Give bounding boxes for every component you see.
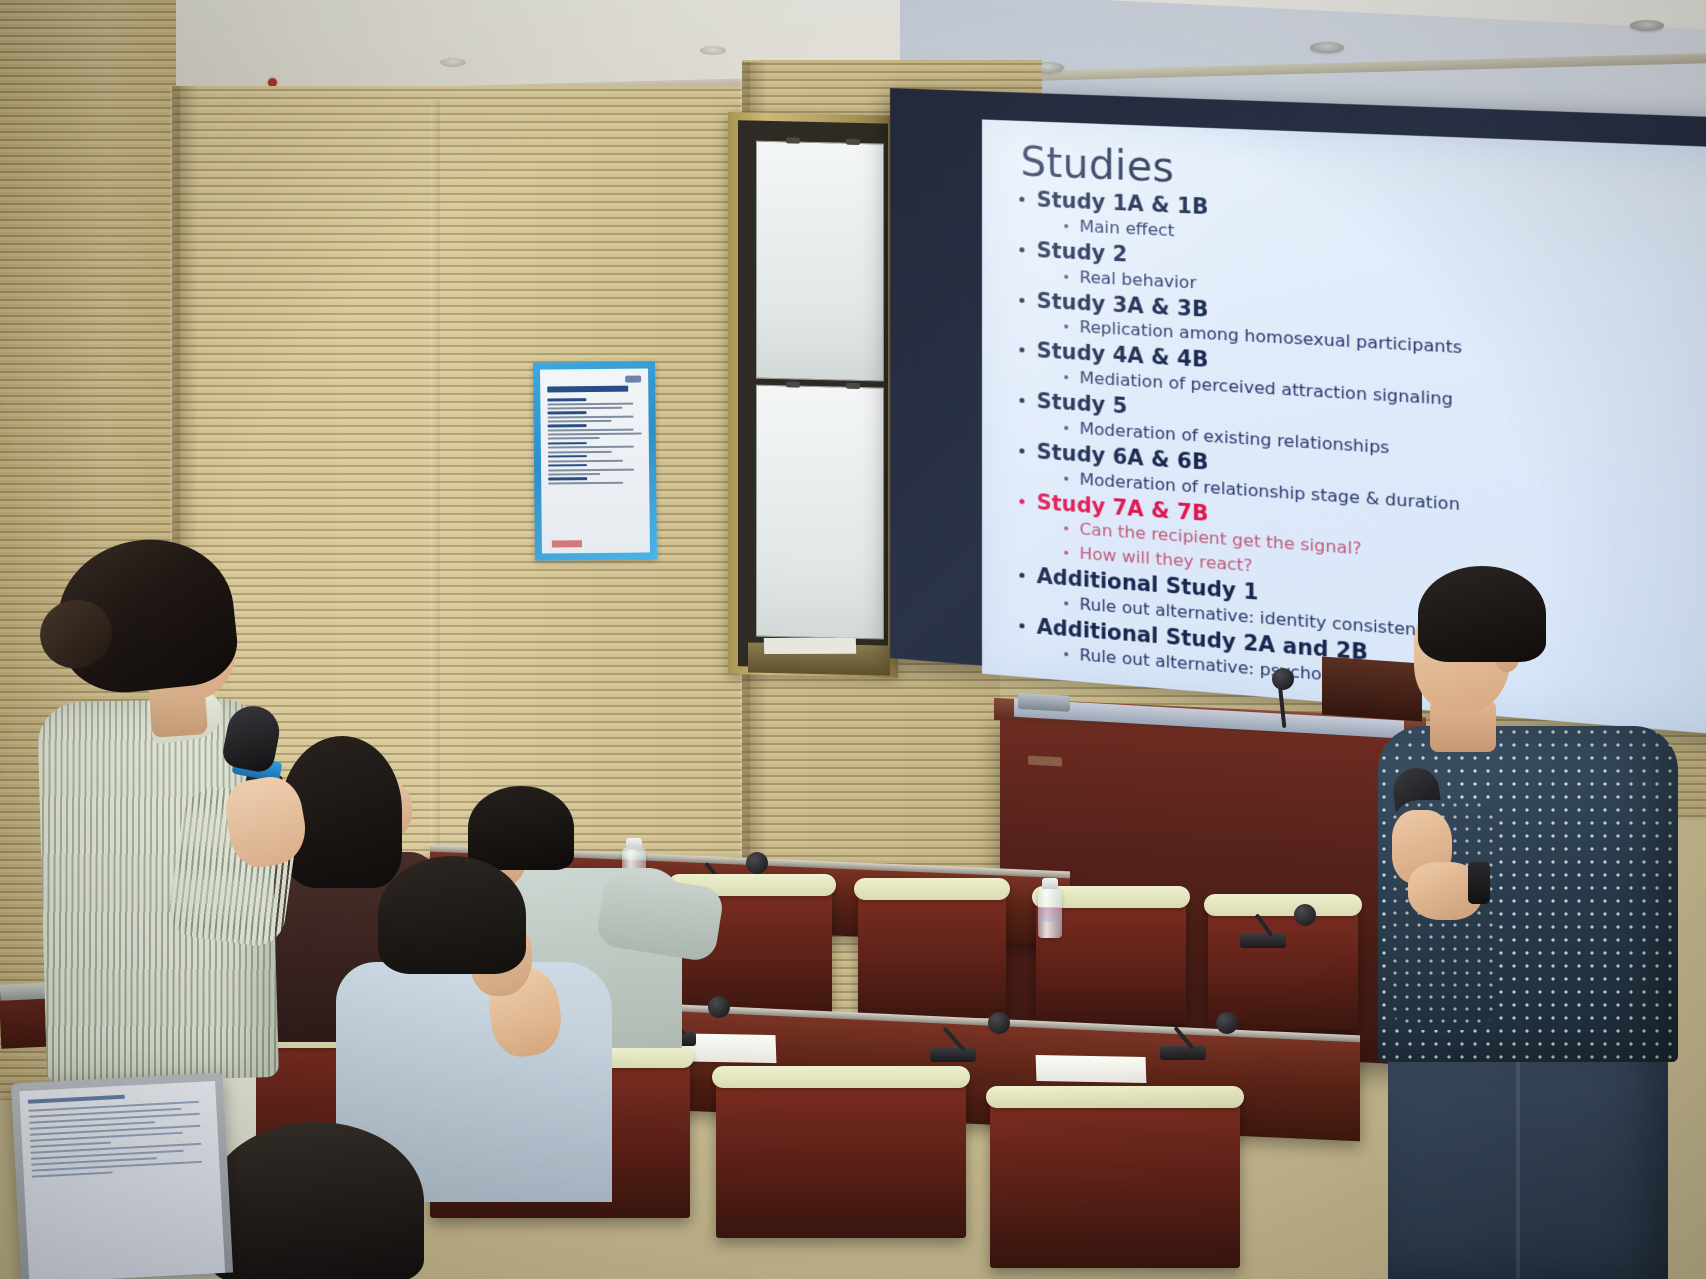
poster-line — [548, 442, 587, 445]
podium-monitor-frame — [1322, 657, 1422, 722]
bottle-cap — [1042, 878, 1058, 889]
chair-headrest-cushion — [986, 1086, 1244, 1108]
chair-headrest-cushion — [712, 1066, 970, 1088]
poster-line — [547, 411, 586, 414]
seated-man-hair — [378, 856, 526, 974]
poster-line — [548, 429, 634, 432]
conference-room-photo: Studies Study 1A & 1BMain effectStudy 2R… — [0, 0, 1706, 1279]
poster-line — [548, 450, 612, 453]
auditorium-chair[interactable] — [1208, 906, 1358, 1030]
poster-line — [548, 464, 587, 467]
man-jeans-seam — [1516, 1060, 1520, 1279]
man-hair — [1418, 566, 1546, 662]
ceiling-downlight-icon — [1310, 42, 1344, 53]
wall-notice-poster — [533, 361, 657, 560]
open-laptop[interactable] — [11, 1073, 233, 1279]
poster-line — [547, 402, 633, 405]
poster-line — [548, 420, 612, 423]
poster-footer — [552, 540, 640, 548]
seated-person-foreground — [208, 1122, 424, 1279]
auditorium-chair[interactable] — [990, 1098, 1240, 1268]
whiteboard-clip-icon — [846, 383, 860, 389]
presentation-slide: Studies Study 1A & 1BMain effectStudy 2R… — [982, 119, 1706, 738]
poster-line — [548, 473, 600, 476]
poster-line — [548, 468, 634, 471]
whiteboard-panel — [728, 112, 898, 678]
poster-logo-icon — [625, 376, 641, 383]
poster-line — [547, 398, 586, 401]
poster-line — [548, 446, 634, 449]
wristwatch-icon — [1468, 862, 1490, 904]
slide-bullet-list: Study 1A & 1BMain effectStudy 2Real beha… — [982, 186, 1706, 721]
poster-line — [548, 437, 600, 440]
whiteboard-clip-icon — [786, 137, 800, 143]
lectern-clip-icon — [1018, 693, 1070, 712]
whiteboard-surface-top — [756, 141, 884, 382]
poster-content — [540, 368, 650, 553]
poster-line — [548, 433, 642, 436]
whiteboard-surface-bottom — [756, 385, 884, 640]
chair-headrest-cushion — [1204, 894, 1362, 916]
document-text-line — [32, 1171, 113, 1178]
lectern-logo-icon — [1028, 756, 1062, 767]
poster-title-bar — [547, 386, 628, 393]
desk-paper-sheet — [1036, 1055, 1147, 1083]
document-heading-line — [28, 1095, 125, 1103]
smoke-detector-icon — [700, 46, 726, 55]
poster-line — [548, 424, 587, 427]
poster-line — [547, 407, 622, 410]
laptop-screen-document — [19, 1081, 225, 1279]
whiteboard-paper — [764, 638, 856, 654]
poster-line — [548, 459, 623, 462]
bottle-cap — [626, 838, 642, 849]
whiteboard-clip-icon — [786, 381, 800, 387]
water-bottle — [1038, 888, 1062, 938]
bottle-label — [1038, 907, 1062, 922]
seated-man-hair — [468, 786, 574, 870]
auditorium-chair[interactable] — [858, 890, 1006, 1018]
man-jeans — [1388, 1040, 1668, 1279]
whiteboard-clip-icon — [846, 139, 860, 145]
chair-headrest-cushion — [854, 878, 1010, 900]
auditorium-chair[interactable] — [716, 1078, 966, 1238]
poster-line — [548, 416, 634, 419]
poster-line — [548, 477, 587, 480]
poster-line — [548, 481, 623, 484]
poster-line — [548, 455, 587, 458]
document-text-line — [30, 1141, 111, 1148]
ceiling-downlight-icon — [1630, 20, 1664, 31]
projection-screen: Studies Study 1A & 1BMain effectStudy 2R… — [890, 88, 1706, 741]
smoke-detector-icon — [440, 58, 466, 67]
